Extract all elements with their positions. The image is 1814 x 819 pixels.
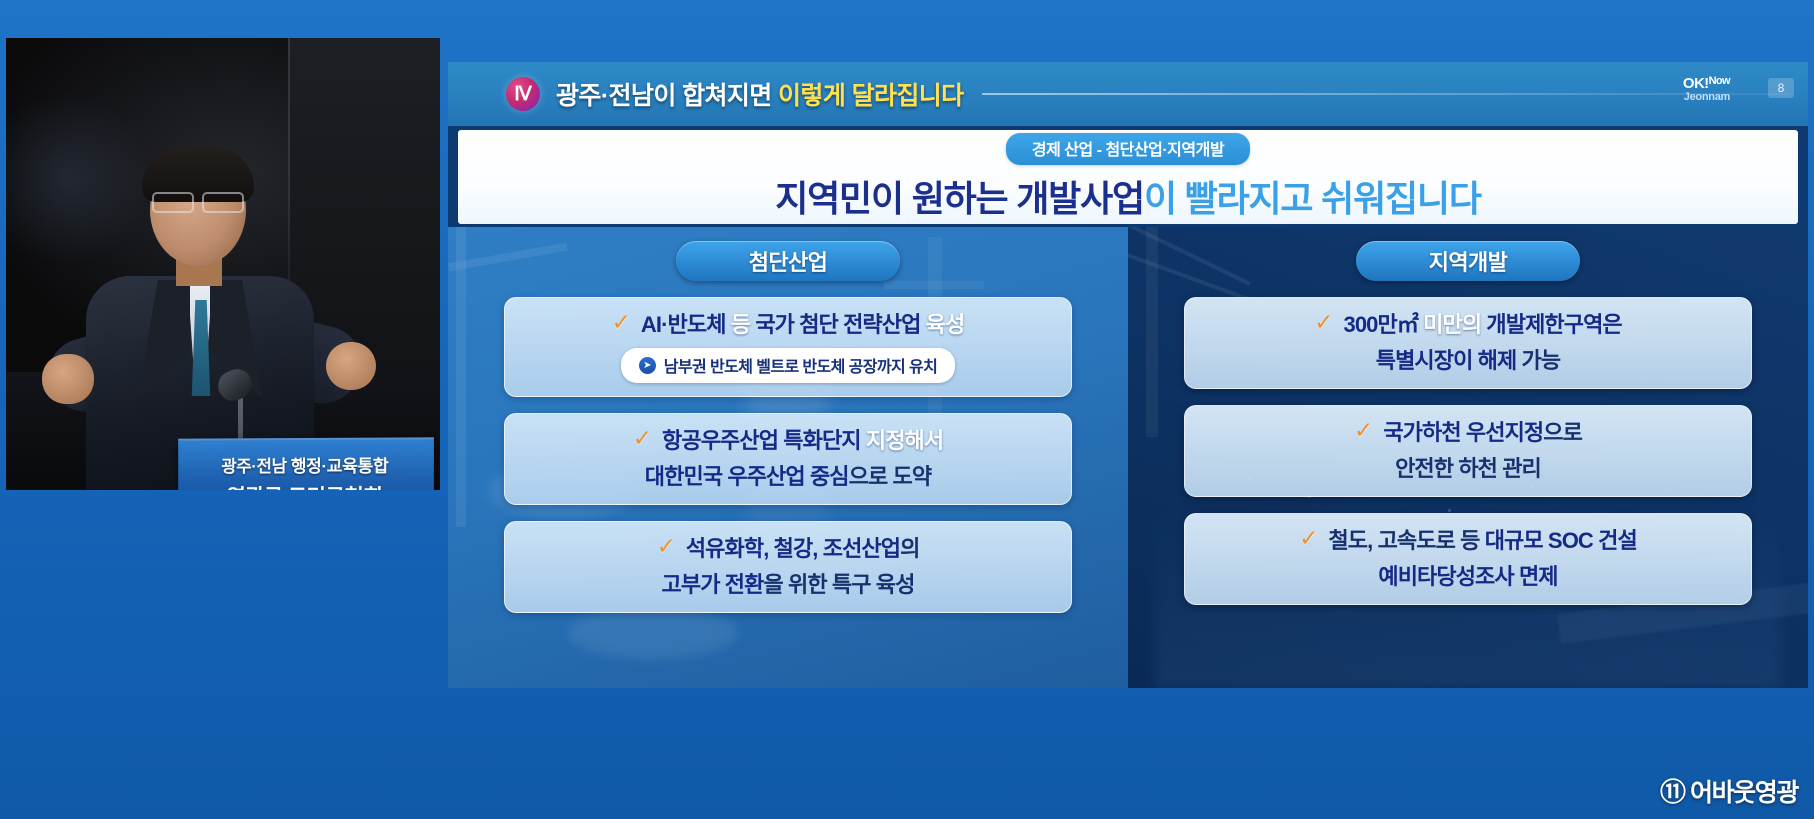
slide-header-title: 광주·전남이 합쳐지면 이렇게 달라집니다 xyxy=(556,76,964,112)
card-text-navy-2: 국가 첨단 전략산업 xyxy=(755,312,920,337)
column-advanced-industry: 첨단산업 ✓ AI·반도체 등 국가 첨단 전략산업 육성 ➤ 남부권 반도체 … xyxy=(448,227,1128,688)
card-text-line2: 대한민국 우주산업 중심으로 도약 xyxy=(645,462,931,491)
category-badge: 경제 산업 - 첨단산업·지역개발 xyxy=(1006,133,1250,165)
card-text-line2: 고부가 전환을 위한 특구 육성 xyxy=(662,570,915,599)
card-item[interactable]: ✓ 철도, 고속도로 등 대규모 SOC 건설 예비타당성조사 면제 xyxy=(1184,513,1752,605)
card-text-navy: 대규모 SOC 건설 xyxy=(1485,528,1637,553)
brand-logo-ok: OK! xyxy=(1683,75,1709,92)
watermark-logo-icon: ⑪ xyxy=(1660,772,1684,809)
card-text: 항공우주산업 특화단지 지정해서 xyxy=(662,426,943,455)
check-icon: ✓ xyxy=(1354,418,1373,442)
card-item[interactable]: ✓ 항공우주산업 특화단지 지정해서 대한민국 우주산업 중심으로 도약 xyxy=(504,413,1072,505)
event-banner: 광주·전남 행정·교육통합 영광군 도민공청회 xyxy=(178,437,434,490)
card-text-navy-2: 고부가 전환 xyxy=(662,572,764,597)
column-heading-advanced-industry: 첨단산업 xyxy=(676,241,900,281)
card-text-navy: 석유화학, 철강, 조선산업 xyxy=(686,536,900,561)
check-icon: ✓ xyxy=(612,310,631,334)
speaker-right-hand xyxy=(326,342,376,390)
card-text-white: 철도, 고속도로 등 xyxy=(1328,528,1484,553)
card-text-navy: 국가하천 우선지정 xyxy=(1383,420,1543,445)
column-regional-development: 지역개발 ✓ 300만㎡ 미만의 개발제한구역은 특별시장이 해제 가능 ✓ 국… xyxy=(1128,227,1808,688)
card-text-navy: 300만㎡ xyxy=(1343,312,1417,337)
header-divider-rule xyxy=(982,93,1790,95)
card-text-navy: 항공우주산업 특화단지 xyxy=(662,428,861,453)
speaker-left-hand xyxy=(42,354,94,404)
card-text-line2: 특별시장이 해제 가능 xyxy=(1376,346,1561,375)
screen-root: 광주·전남 행정·교육통합 영광군 도민공청회 Ⅳ 광주·전남이 합쳐지면 이렇… xyxy=(0,0,1814,819)
card-text-line2: 예비타당성조사 면제 xyxy=(1378,562,1557,591)
check-icon: ✓ xyxy=(1299,526,1318,550)
card-row: ✓ 국가하천 우선지정으로 xyxy=(1201,418,1735,447)
card-row: ✓ AI·반도체 등 국가 첨단 전략산업 육성 xyxy=(521,310,1055,339)
presentation-slide[interactable]: Ⅳ 광주·전남이 합쳐지면 이렇게 달라집니다 OK!Now Jeonnam 8… xyxy=(448,62,1808,688)
card-text-navy: AI·반도체 xyxy=(641,312,726,337)
card-text: 철도, 고속도로 등 대규모 SOC 건설 xyxy=(1328,526,1636,555)
cloud-shape xyxy=(568,607,738,659)
card-text-white: 등 xyxy=(726,312,756,337)
slide-header-title-highlight: 이렇게 달라집니다 xyxy=(778,82,964,110)
card-row: ✓ 항공우주산업 특화단지 지정해서 xyxy=(521,426,1055,455)
card-text: AI·반도체 등 국가 첨단 전략산업 육성 xyxy=(641,310,964,339)
card-item[interactable]: ✓ 석유화학, 철강, 조선산업의 고부가 전환을 위한 특구 육성 xyxy=(504,521,1072,613)
event-banner-line1: 광주·전남 행정·교육통합 xyxy=(221,451,388,476)
check-icon: ✓ xyxy=(1314,310,1333,334)
card-text-white: 지정해서 xyxy=(861,428,944,453)
card-text-white: 의 xyxy=(900,536,919,561)
card-subnote-text: 남부권 반도체 벨트로 반도체 공장까지 유치 xyxy=(664,353,937,377)
eyeglasses-icon xyxy=(152,192,244,210)
slide-main-title: 지역민이 원하는 개발사업이 빨라지고 쉬워집니다 xyxy=(775,170,1481,222)
card-text-white-2: 을 위한 특구 육성 xyxy=(763,572,914,597)
card-text: 석유화학, 철강, 조선산업의 xyxy=(686,534,920,563)
card-subnote: ➤ 남부권 반도체 벨트로 반도체 공장까지 유치 xyxy=(621,348,955,383)
slide-main-title-navy: 지역민이 원하는 개발사업 xyxy=(775,178,1144,219)
check-icon: ✓ xyxy=(657,534,676,558)
event-banner-line2: 영광군 도민공청회 xyxy=(227,480,383,490)
card-text-white-2: 육성 xyxy=(920,312,964,337)
brand-logo: OK!Now Jeonnam xyxy=(1683,76,1730,103)
slide-page-number: 8 xyxy=(1768,78,1794,98)
card-list-advanced-industry: ✓ AI·반도체 등 국가 첨단 전략산업 육성 ➤ 남부권 반도체 벨트로 반… xyxy=(448,281,1128,613)
brand-logo-now: Now xyxy=(1709,76,1730,87)
brand-logo-line1: OK!Now xyxy=(1683,76,1730,91)
brand-logo-line2: Jeonnam xyxy=(1683,92,1730,103)
card-text-white-2: 안전한 하천 관리 xyxy=(1395,456,1541,481)
slide-main-title-cyan: 이 빨라지고 쉬워집니다 xyxy=(1144,178,1481,219)
crane-jib xyxy=(448,243,568,272)
card-text: 국가하천 우선지정으로 xyxy=(1383,418,1582,447)
card-row: ✓ 300만㎡ 미만의 개발제한구역은 xyxy=(1201,310,1735,339)
card-item[interactable]: ✓ 국가하천 우선지정으로 안전한 하천 관리 xyxy=(1184,405,1752,497)
slide-header-bar: Ⅳ 광주·전남이 합쳐지면 이렇게 달라집니다 OK!Now Jeonnam 8 xyxy=(448,62,1808,126)
card-list-regional-development: ✓ 300만㎡ 미만의 개발제한구역은 특별시장이 해제 가능 ✓ 국가하천 우… xyxy=(1128,281,1808,605)
card-text-navy-2: 대한민국 우주산업 중심 xyxy=(645,464,849,489)
card-text: 300만㎡ 미만의 개발제한구역은 xyxy=(1343,310,1621,339)
card-row: ✓ 석유화학, 철강, 조선산업의 xyxy=(521,534,1055,563)
card-text-navy-2: 개발제한구역은 xyxy=(1486,312,1621,337)
column-heading-regional-development: 지역개발 xyxy=(1356,241,1580,281)
card-text-white: 미만의 xyxy=(1418,312,1486,337)
card-row: ✓ 철도, 고속도로 등 대규모 SOC 건설 xyxy=(1201,526,1735,555)
check-icon: ✓ xyxy=(633,426,652,450)
brand-logo-text: OK!Now Jeonnam xyxy=(1683,76,1730,103)
card-item[interactable]: ✓ 300만㎡ 미만의 개발제한구역은 특별시장이 해제 가능 xyxy=(1184,297,1752,389)
card-text-white: 으로 xyxy=(1543,420,1582,445)
channel-watermark: ⑪ 어바웃영광 xyxy=(1660,772,1798,809)
slide-header-title-white: 광주·전남이 합쳐지면 xyxy=(556,82,778,110)
card-item[interactable]: ✓ AI·반도체 등 국가 첨단 전략산업 육성 ➤ 남부권 반도체 벨트로 반… xyxy=(504,297,1072,397)
card-text-navy-3: 특별시장이 해제 xyxy=(1376,348,1517,373)
arrow-right-icon: ➤ xyxy=(639,357,656,374)
video-feed-panel[interactable]: 광주·전남 행정·교육통합 영광군 도민공청회 xyxy=(6,38,440,490)
card-text-white-2: 으로 도약 xyxy=(849,464,932,489)
slide-content-columns: 첨단산업 ✓ AI·반도체 등 국가 첨단 전략산업 육성 ➤ 남부권 반도체 … xyxy=(448,227,1808,688)
card-text-white-2: 가능 xyxy=(1516,348,1560,373)
card-text-line2: 안전한 하천 관리 xyxy=(1395,454,1541,483)
section-number-badge: Ⅳ xyxy=(506,77,540,111)
watermark-label: 어바웃영광 xyxy=(1690,773,1798,809)
slide-title-band: 경제 산업 - 첨단산업·지역개발 지역민이 원하는 개발사업이 빨라지고 쉬워… xyxy=(458,130,1798,224)
card-text-navy-2: 예비타당성조사 면제 xyxy=(1378,564,1557,589)
